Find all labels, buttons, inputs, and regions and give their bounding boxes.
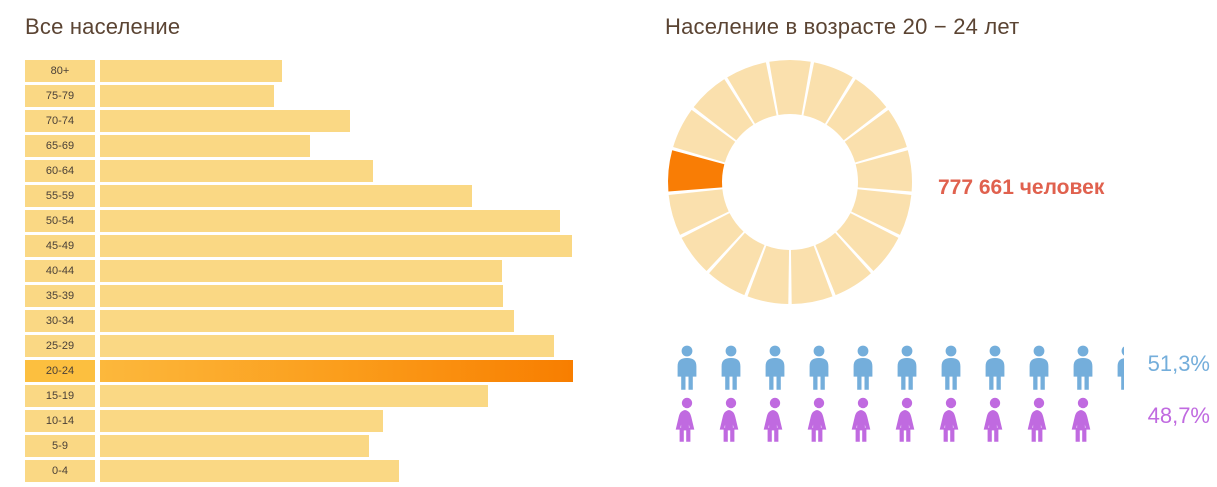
male-person-icon: [1022, 342, 1066, 390]
bar-row[interactable]: 40-44: [25, 260, 585, 282]
male-share-row: 51,3%: [670, 342, 1210, 390]
population-donut-chart: [660, 55, 930, 310]
male-person-icon: [802, 342, 846, 390]
male-person-icon: [846, 342, 890, 390]
female-person-icon: [802, 394, 846, 442]
male-person-icon: [934, 342, 978, 390]
bar-track: [100, 85, 585, 107]
all-population-panel: Все население 80+75-7970-7465-6960-6455-…: [0, 0, 610, 487]
female-person-icon: [890, 394, 934, 442]
bar-row[interactable]: 25-29: [25, 335, 585, 357]
bar-row-label: 15-19: [25, 385, 95, 407]
female-person-icon: [714, 394, 758, 442]
bar-track: [100, 160, 585, 182]
bar-fill: [100, 160, 373, 182]
bar-fill: [100, 335, 554, 357]
bar-track: [100, 135, 585, 157]
bar-row[interactable]: 55-59: [25, 185, 585, 207]
bar-row[interactable]: 35-39: [25, 285, 585, 307]
female-person-icon: [1022, 394, 1066, 442]
bar-row[interactable]: 30-34: [25, 310, 585, 332]
bar-row-label: 20-24: [25, 360, 95, 382]
bar-fill: [100, 435, 369, 457]
bar-fill: [100, 60, 282, 82]
bar-track: [100, 260, 585, 282]
bar-fill: [100, 360, 573, 382]
bar-track: [100, 285, 585, 307]
bar-row[interactable]: 15-19: [25, 385, 585, 407]
bar-row-label: 40-44: [25, 260, 95, 282]
bar-row-label: 10-14: [25, 410, 95, 432]
male-percent-label: 51,3%: [1090, 351, 1210, 377]
bar-fill: [100, 410, 383, 432]
bar-row-label: 60-64: [25, 160, 95, 182]
male-person-icon: [758, 342, 802, 390]
bar-row[interactable]: 80+: [25, 60, 585, 82]
bar-track: [100, 310, 585, 332]
bar-track: [100, 460, 585, 482]
page-title: Все население: [25, 14, 180, 40]
bar-track: [100, 235, 585, 257]
bar-track: [100, 110, 585, 132]
female-person-icon: [978, 394, 1022, 442]
bar-fill: [100, 260, 502, 282]
donut-segment[interactable]: [769, 60, 810, 115]
bar-fill: [100, 135, 310, 157]
bar-row-label: 55-59: [25, 185, 95, 207]
bar-track: [100, 185, 585, 207]
female-pictogram-icons: [670, 394, 1094, 442]
bar-fill: [100, 385, 488, 407]
bar-track: [100, 435, 585, 457]
bar-fill: [100, 110, 350, 132]
bar-row[interactable]: 65-69: [25, 135, 585, 157]
bar-row-label: 45-49: [25, 235, 95, 257]
bar-row-label: 0-4: [25, 460, 95, 482]
bar-fill: [100, 210, 560, 232]
female-person-icon: [934, 394, 978, 442]
male-person-icon: [978, 342, 1022, 390]
male-pictogram-icons: [670, 342, 1124, 390]
bar-row-label: 30-34: [25, 310, 95, 332]
bar-row[interactable]: 75-79: [25, 85, 585, 107]
bar-row[interactable]: 45-49: [25, 235, 585, 257]
bar-row[interactable]: 20-24: [25, 360, 585, 382]
bar-track: [100, 60, 585, 82]
bar-track: [100, 335, 585, 357]
bar-row[interactable]: 10-14: [25, 410, 585, 432]
female-share-row: 48,7%: [670, 394, 1210, 442]
bar-row-label: 35-39: [25, 285, 95, 307]
bar-row-label: 80+: [25, 60, 95, 82]
male-person-icon: [714, 342, 758, 390]
bar-track: [100, 385, 585, 407]
age-group-panel: Население в возрасте 20 − 24 лет 777 661…: [610, 0, 1217, 487]
highlight-value-label: 777 661 человек: [938, 176, 1104, 200]
bar-row-label: 5-9: [25, 435, 95, 457]
donut-svg: [660, 55, 930, 310]
bar-row-label: 75-79: [25, 85, 95, 107]
bar-row[interactable]: 5-9: [25, 435, 585, 457]
bar-row[interactable]: 60-64: [25, 160, 585, 182]
bar-row[interactable]: 0-4: [25, 460, 585, 482]
bar-row[interactable]: 70-74: [25, 110, 585, 132]
population-bar-chart: 80+75-7970-7465-6960-6455-5950-5445-4940…: [25, 60, 585, 485]
bar-fill: [100, 235, 572, 257]
bar-row-label: 65-69: [25, 135, 95, 157]
bar-row-label: 25-29: [25, 335, 95, 357]
bar-fill: [100, 310, 514, 332]
female-person-icon: [846, 394, 890, 442]
female-percent-label: 48,7%: [1090, 403, 1210, 429]
bar-fill: [100, 185, 472, 207]
bar-fill: [100, 85, 274, 107]
male-person-icon: [890, 342, 934, 390]
bar-row-label: 70-74: [25, 110, 95, 132]
bar-fill: [100, 285, 503, 307]
bar-row-label: 50-54: [25, 210, 95, 232]
female-person-icon: [670, 394, 714, 442]
bar-track: [100, 360, 585, 382]
age-group-title: Население в возрасте 20 − 24 лет: [665, 14, 1019, 40]
bar-row[interactable]: 50-54: [25, 210, 585, 232]
bar-track: [100, 210, 585, 232]
bar-track: [100, 410, 585, 432]
bar-fill: [100, 460, 399, 482]
male-person-icon: [670, 342, 714, 390]
female-person-icon: [758, 394, 802, 442]
